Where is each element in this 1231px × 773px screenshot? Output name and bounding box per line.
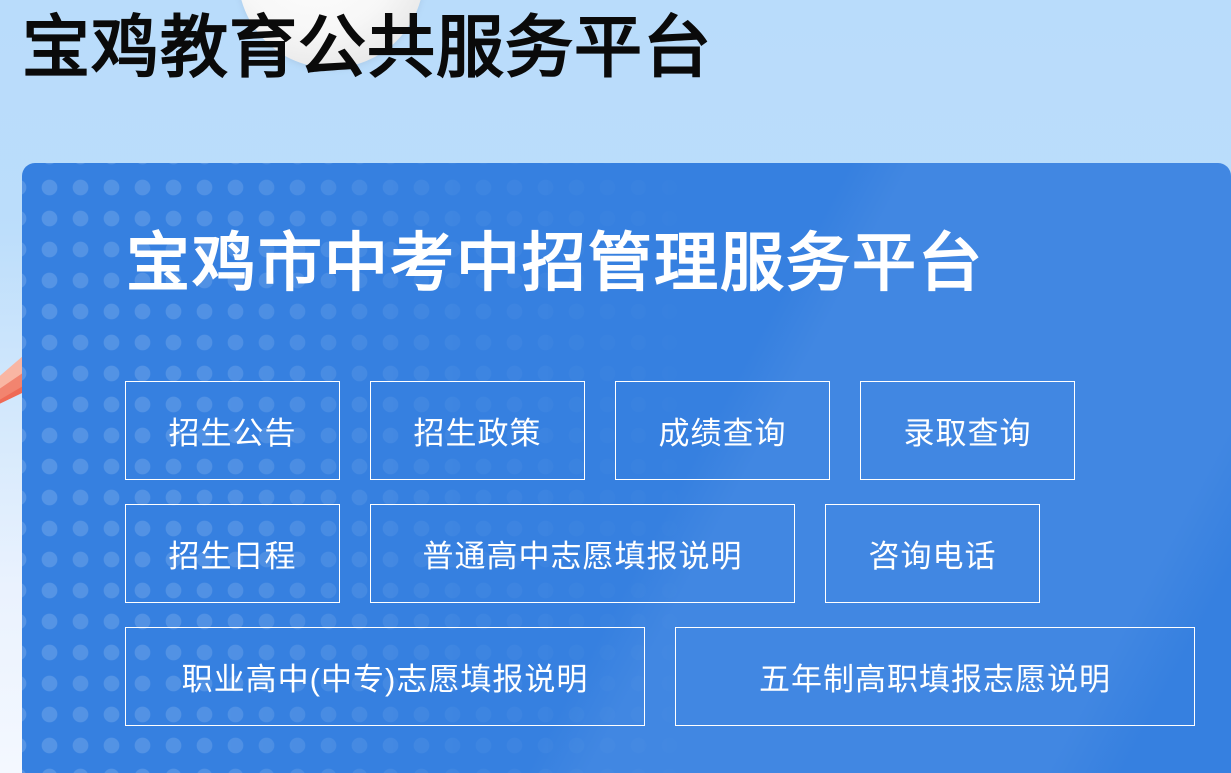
- link-admission-query[interactable]: 录取查询: [860, 381, 1075, 480]
- link-consultation-phone[interactable]: 咨询电话: [825, 504, 1040, 603]
- page-title: 宝鸡教育公共服务平台: [22, 14, 712, 82]
- panel-title: 宝鸡市中考中招管理服务平台: [126, 231, 984, 295]
- link-regular-highschool-application-guide[interactable]: 普通高中志愿填报说明: [370, 504, 795, 603]
- main-panel: 宝鸡市中考中招管理服务平台 招生公告 招生政策 成绩查询 录取查询 招生日程 普…: [22, 163, 1231, 773]
- link-row-1: 招生公告 招生政策 成绩查询 录取查询: [125, 381, 1185, 480]
- link-five-year-college-application-guide[interactable]: 五年制高职填报志愿说明: [675, 627, 1195, 726]
- link-enrollment-policy[interactable]: 招生政策: [370, 381, 585, 480]
- link-enrollment-announcement[interactable]: 招生公告: [125, 381, 340, 480]
- link-vocational-highschool-application-guide[interactable]: 职业高中(中专)志愿填报说明: [125, 627, 645, 726]
- link-row-2: 招生日程 普通高中志愿填报说明 咨询电话: [125, 504, 1185, 603]
- link-row-3: 职业高中(中专)志愿填报说明 五年制高职填报志愿说明: [125, 627, 1185, 726]
- link-button-grid: 招生公告 招生政策 成绩查询 录取查询 招生日程 普通高中志愿填报说明 咨询电话…: [125, 381, 1185, 726]
- link-score-query[interactable]: 成绩查询: [615, 381, 830, 480]
- page-root: 宝鸡教育公共服务平台 宝鸡市中考中招管理服务平台 招生公告 招生政策 成绩查询 …: [0, 0, 1231, 773]
- link-enrollment-schedule[interactable]: 招生日程: [125, 504, 340, 603]
